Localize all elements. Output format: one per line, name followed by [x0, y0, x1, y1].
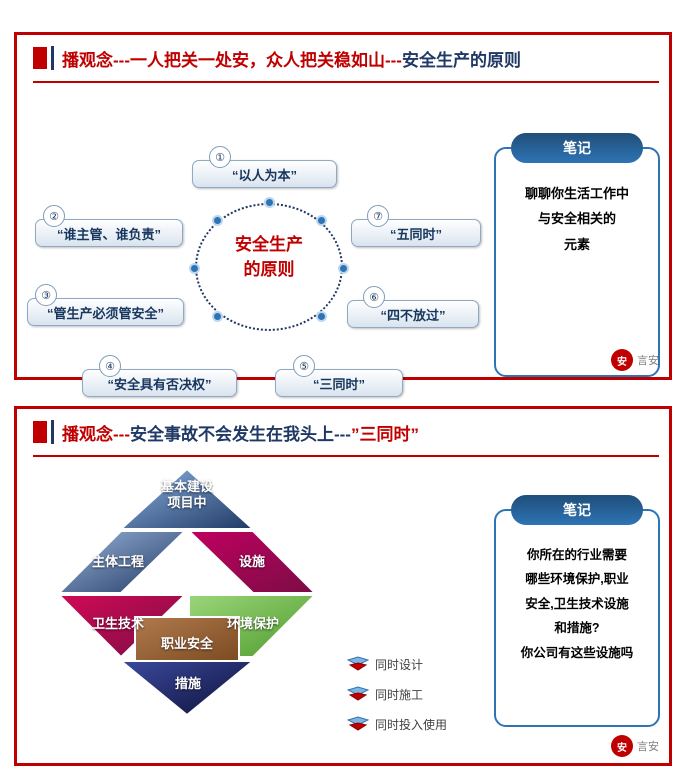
legend-item: 同时设计	[347, 649, 497, 679]
principle-number-4: ④	[99, 355, 121, 377]
ribbon-icon	[347, 686, 369, 702]
ribbon-icon	[347, 656, 369, 672]
circle-node-dot	[212, 311, 223, 322]
watermark-label-top: 言安	[637, 352, 659, 368]
title-bottom-red-1: 播观念---	[62, 425, 130, 444]
watermark-label-bottom: 言安	[637, 738, 659, 754]
circle-node-dot	[189, 263, 200, 274]
note-line: 聊聊你生活工作中	[504, 181, 650, 206]
diamond-label-measures: 措施	[153, 673, 223, 692]
principle-label-5: “三同时”	[313, 374, 365, 393]
watermark-bottom: 安 言安	[611, 735, 659, 757]
slide-top: 播观念---一人把关一处安，众人把关稳如山---安全生产的原则 安全生产 的原则…	[14, 32, 672, 380]
page-title-bottom: 播观念---安全事故不会发生在我头上---”三同时”	[62, 420, 419, 445]
title-bottom-red-2: ”三同时”	[351, 425, 419, 444]
note-line: 你公司有这些设施吗	[504, 641, 650, 665]
diamond-label-facility: 设施	[217, 551, 287, 570]
principle-number-5: ⑤	[293, 355, 315, 377]
title-top-red: 播观念---一人把关一处安，众人把关稳如山---	[62, 51, 402, 70]
title-top-blue: 安全生产的原则	[402, 51, 521, 70]
note-body-top: 聊聊你生活工作中 与安全相关的 元素	[504, 181, 650, 369]
diamond-label-main-project: 主体工程	[73, 551, 163, 570]
note-header-bottom: 笔记	[511, 495, 643, 525]
note-body-bottom: 你所在的行业需要 哪些环境保护,职业 安全,卫生技术设施 和措施? 你公司有这些…	[504, 543, 650, 719]
legend-item: 同时投入使用	[347, 709, 497, 739]
diamond-label-env-protection: 环境保护	[207, 613, 299, 632]
title-divider-bottom	[33, 455, 659, 457]
watermark-badge-icon: 安	[611, 349, 633, 371]
note-line: 元素	[504, 232, 650, 257]
principle-label-7: “五同时”	[390, 224, 442, 243]
principle-label-6: “四不放过”	[380, 305, 445, 324]
ribbon-icon	[347, 716, 369, 732]
principle-number-1: ①	[209, 146, 231, 168]
legend-label-3: 同时投入使用	[375, 716, 447, 733]
center-circle-label: 安全生产 的原则	[195, 233, 343, 282]
watermark-badge-icon: 安	[611, 735, 633, 757]
center-line-1: 安全生产	[195, 233, 343, 258]
note-panel-top: 笔记 聊聊你生活工作中 与安全相关的 元素	[494, 147, 660, 377]
center-circle: 安全生产 的原则	[195, 203, 343, 331]
slide-top-title-row: 播观念---一人把关一处安，众人把关稳如山---安全生产的原则	[17, 35, 669, 81]
note-line: 你所在的行业需要	[504, 543, 650, 567]
title-bar-icon	[51, 420, 54, 444]
circle-node-dot	[264, 197, 275, 208]
diamond-label-basic-construction: 基本建设 项目中	[147, 479, 227, 512]
center-line-2: 的原则	[195, 258, 343, 283]
circle-node-dot	[212, 215, 223, 226]
page-title-top: 播观念---一人把关一处安，众人把关稳如山---安全生产的原则	[62, 46, 521, 71]
principle-number-2: ②	[43, 205, 65, 227]
note-header-top: 笔记	[511, 133, 643, 163]
note-line: 和措施?	[504, 616, 650, 640]
legend-list: 同时设计 同时施工 同时投入使用	[347, 649, 497, 739]
title-flag-icon	[33, 421, 47, 443]
circle-node-dot	[316, 311, 327, 322]
principle-number-7: ⑦	[367, 205, 389, 227]
title-flag-icon	[33, 47, 47, 69]
note-line: 哪些环境保护,职业	[504, 567, 650, 591]
legend-label-1: 同时设计	[375, 656, 423, 673]
legend-item: 同时施工	[347, 679, 497, 709]
principle-label-3: “管生产必须管安全”	[47, 303, 164, 322]
diamond-label-health-tech: 卫生技术	[75, 613, 161, 632]
note-line: 安全,卫生技术设施	[504, 592, 650, 616]
slide-bottom: 播观念---安全事故不会发生在我头上---”三同时”	[14, 406, 672, 766]
title-bar-icon	[51, 46, 54, 70]
legend-label-2: 同时施工	[375, 686, 423, 703]
page-root: 播观念---一人把关一处安，众人把关稳如山---安全生产的原则 安全生产 的原则…	[0, 0, 686, 780]
principle-label-1: “以人为本”	[232, 165, 297, 184]
title-divider-top	[33, 81, 659, 83]
note-line: 与安全相关的	[504, 206, 650, 231]
principle-number-6: ⑥	[363, 286, 385, 308]
circle-node-dot	[338, 263, 349, 274]
diamond-label-occupational-safety: 职业安全	[141, 633, 233, 652]
title-bottom-blue: 安全事故不会发生在我头上---	[130, 425, 351, 444]
slide-bottom-title-row: 播观念---安全事故不会发生在我头上---”三同时”	[17, 409, 669, 455]
three-simultaneous-diagram: 基本建设 项目中 主体工程 设施 卫生技术 环境保护 职业安全 措施	[57, 467, 317, 717]
watermark-top: 安 言安	[611, 349, 659, 371]
circle-node-dot	[316, 215, 327, 226]
principle-number-3: ③	[35, 284, 57, 306]
principle-item-5[interactable]: “三同时”	[275, 369, 403, 397]
principle-label-2: “谁主管、谁负责”	[57, 224, 161, 243]
note-panel-bottom: 笔记 你所在的行业需要 哪些环境保护,职业 安全,卫生技术设施 和措施? 你公司…	[494, 509, 660, 727]
principle-label-4: “安全具有否决权”	[107, 374, 211, 393]
